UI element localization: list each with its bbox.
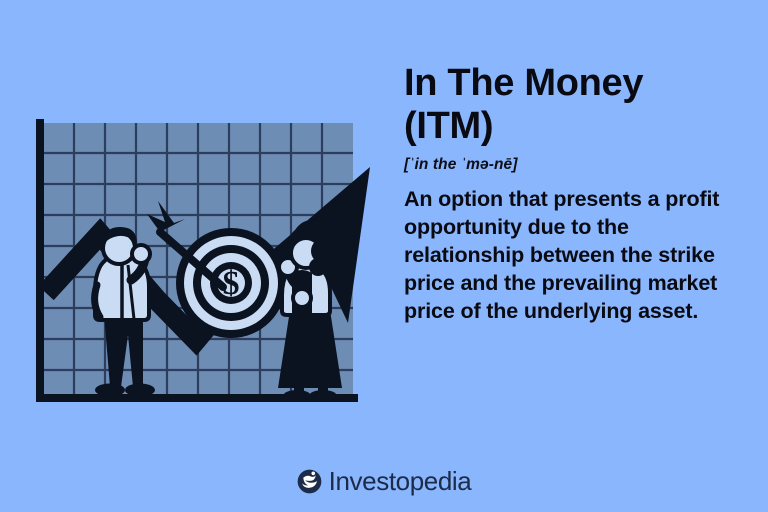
definition-body: An option that presents a profit opportu… <box>404 186 734 326</box>
investopedia-circle-swoosh-icon <box>297 469 322 494</box>
investopedia-logo[interactable]: Investopedia <box>0 468 768 494</box>
definition-card: $ <box>0 0 768 512</box>
investopedia-wordmark: Investopedia <box>329 468 472 494</box>
pronunciation: [ˈin the ˈmə-nē] <box>404 156 734 174</box>
dollar-target: $ <box>176 228 286 338</box>
illustration: $ <box>0 95 385 425</box>
definition-text-column: In The Money (ITM) [ˈin the ˈmə-nē] An o… <box>404 62 734 326</box>
page-title: In The Money (ITM) <box>404 62 734 147</box>
